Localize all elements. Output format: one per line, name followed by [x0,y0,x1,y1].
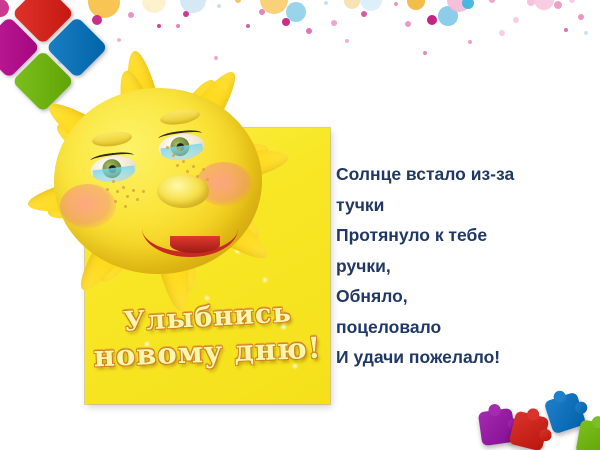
confetti-dot [361,11,367,17]
freckle [124,205,127,208]
confetti-dot [344,0,360,9]
confetti-dot [217,4,221,8]
poem-line-3: Протянуло к тебе [336,220,586,251]
puzzle-knob [552,389,567,404]
confetti-dot [146,6,150,10]
smiling-sun-illustration [8,36,308,326]
freckle [182,160,185,163]
confetti-dot [554,1,562,9]
poem-line-1: Солнце встало из-за [336,159,586,190]
freckle [136,198,139,201]
confetti-dot [324,1,328,5]
poem-line-2: тучки [336,190,586,221]
confetti-dot [513,17,519,23]
eye-left [88,145,138,184]
sun-face [54,88,262,274]
eye-right [156,123,206,162]
poem-text: Солнце встало из-затучкиПротянуло к тебе… [336,159,586,373]
poem-line-5: Обняло, [336,281,586,312]
confetti-dot [183,11,189,17]
freckle [142,190,145,193]
freckle [172,154,175,157]
puzzle-knob [574,400,589,415]
confetti-dot [176,24,180,28]
freckle [126,195,129,198]
freckle [178,148,181,151]
freckle [132,189,135,192]
freckle [186,170,189,173]
freckle [202,168,205,171]
confetti-dot [260,0,288,14]
confetti-dot [578,14,584,20]
confetti-dot [499,30,505,36]
confetti-dot [584,31,588,35]
confetti-dot [527,0,535,6]
freckle [122,186,125,189]
confetti-dot [331,20,337,26]
confetti-dot [246,24,250,28]
confetti-dot [360,0,382,11]
puzzle-knob [526,407,541,422]
confetti-dot [423,51,427,55]
confetti-dot [235,0,241,3]
confetti-dot [128,12,134,18]
puzzle-piece-red [508,410,549,450]
confetti-dot [259,9,265,15]
puzzle-knob [538,428,553,443]
freckle [196,175,199,178]
puzzle-knob [488,403,502,417]
confetti-dot [157,24,161,28]
confetti-dot [282,18,290,26]
poem-line-7: И удачи пожелало! [336,342,586,373]
confetti-dot [142,0,166,13]
confetti-dot [407,0,425,10]
freckle [206,178,209,181]
confetti-dot [534,0,554,10]
puzzle-knob [591,415,600,429]
confetti-dot [405,21,411,27]
confetti-dot [447,0,471,12]
confetti-dot [427,15,437,25]
freckle [166,146,169,149]
confetti-dot [569,0,575,3]
confetti-dot [180,0,206,13]
sun-lower-lip [170,236,220,253]
confetti-dot [286,2,306,22]
card-caption-line2: новому дню! [85,333,331,371]
freckle [112,180,115,183]
confetti-dot [394,2,398,6]
poem-line-4: ручки, [336,251,586,282]
confetti-dot [564,28,568,32]
freckle [114,200,117,203]
freckle [192,165,195,168]
confetti-dot [489,0,495,3]
freckle [106,188,109,191]
greeting-card-image: Улыбнись новому дню! [0,0,600,450]
confetti-dot [438,6,458,26]
poem-line-6: поцеловало [336,312,586,343]
freckle [176,164,179,167]
confetti-dot [468,40,472,44]
freckle [116,190,119,193]
confetti-dot [462,0,474,9]
confetti-dot [306,28,312,34]
confetti-dot [345,39,349,43]
